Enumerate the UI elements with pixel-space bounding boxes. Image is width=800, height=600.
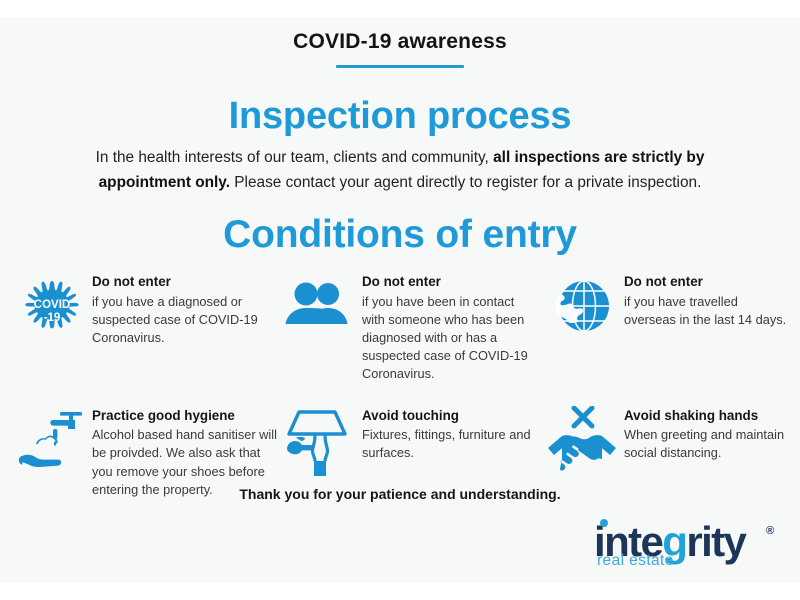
covid-virus-icon: COVID -19 [14,272,92,346]
covid-icon-label-top: COVID [34,299,70,311]
condition-item-overseas-travel: Do not enter if you have travelled overs… [546,272,790,346]
condition-item-covid-case: COVID -19 Do not enter if you have a dia… [14,272,284,347]
logo-i-dot-icon [600,519,608,527]
condition-text-block: Do not enter if you have a diagnosed or … [92,272,278,347]
registered-trademark-icon: ® [766,525,774,537]
conditions-grid: COVID -19 Do not enter if you have a dia… [14,272,790,499]
lamp-no-touch-icon [284,406,362,484]
condition-title: Do not enter [92,274,278,291]
section-title-conditions-of-entry: Conditions of entry [0,215,800,256]
condition-body: if you have a diagnosed or suspected cas… [92,293,278,347]
covid-icon-label-bottom: -19 [44,312,61,324]
logo-word-post: rity [686,518,745,565]
condition-title: Practice good hygiene [92,408,278,425]
intro-text-tail: Please contact your agent directly to re… [230,174,701,191]
no-handshake-icon [546,406,624,484]
cross-mark-icon [574,408,592,426]
page-title-inspection-process: Inspection process [0,97,800,137]
hand-wash-faucet-icon [14,406,92,484]
condition-body: if you have been in contact with someone… [362,293,540,384]
condition-item-avoid-touching: Avoid touching Fixtures, fittings, furni… [284,406,546,484]
condition-title: Do not enter [624,274,790,291]
condition-text-block: Avoid touching Fixtures, fittings, furni… [362,406,540,463]
condition-text-block: Practice good hygiene Alcohol based hand… [92,406,278,499]
condition-title: Avoid touching [362,408,540,425]
condition-text-block: Do not enter if you have travelled overs… [624,272,790,329]
condition-body: Fixtures, fittings, furniture and surfac… [362,426,540,462]
conditions-row-1: COVID -19 Do not enter if you have a dia… [14,272,790,384]
condition-body: if you have travelled overseas in the la… [624,293,790,329]
condition-title: Avoid shaking hands [624,408,790,425]
globe-icon [546,272,624,346]
logo-tagline: real estate [597,553,674,569]
covid-awareness-poster: COVID-19 awareness Inspection process In… [0,0,800,600]
thank-you-message: Thank you for your patience and understa… [0,486,800,502]
kicker-title: COVID-19 awareness [0,30,800,53]
condition-text-block: Avoid shaking hands When greeting and ma… [624,406,790,463]
condition-item-good-hygiene: Practice good hygiene Alcohol based hand… [14,406,284,499]
condition-item-avoid-handshake: Avoid shaking hands When greeting and ma… [546,406,790,484]
conditions-row-2: Practice good hygiene Alcohol based hand… [14,406,790,499]
condition-title: Do not enter [362,274,540,291]
condition-text-block: Do not enter if you have been in contact… [362,272,540,384]
condition-item-close-contact: Do not enter if you have been in contact… [284,272,546,384]
intro-text-lead: In the health interests of our team, cli… [96,149,494,166]
intro-paragraph: In the health interests of our team, cli… [48,146,752,196]
kicker-block: COVID-19 awareness [0,30,800,68]
condition-body: When greeting and maintain social distan… [624,426,790,462]
kicker-underline-divider [336,65,464,68]
integrity-real-estate-logo: integrity ® real estate [588,513,788,571]
two-people-icon [284,272,362,346]
